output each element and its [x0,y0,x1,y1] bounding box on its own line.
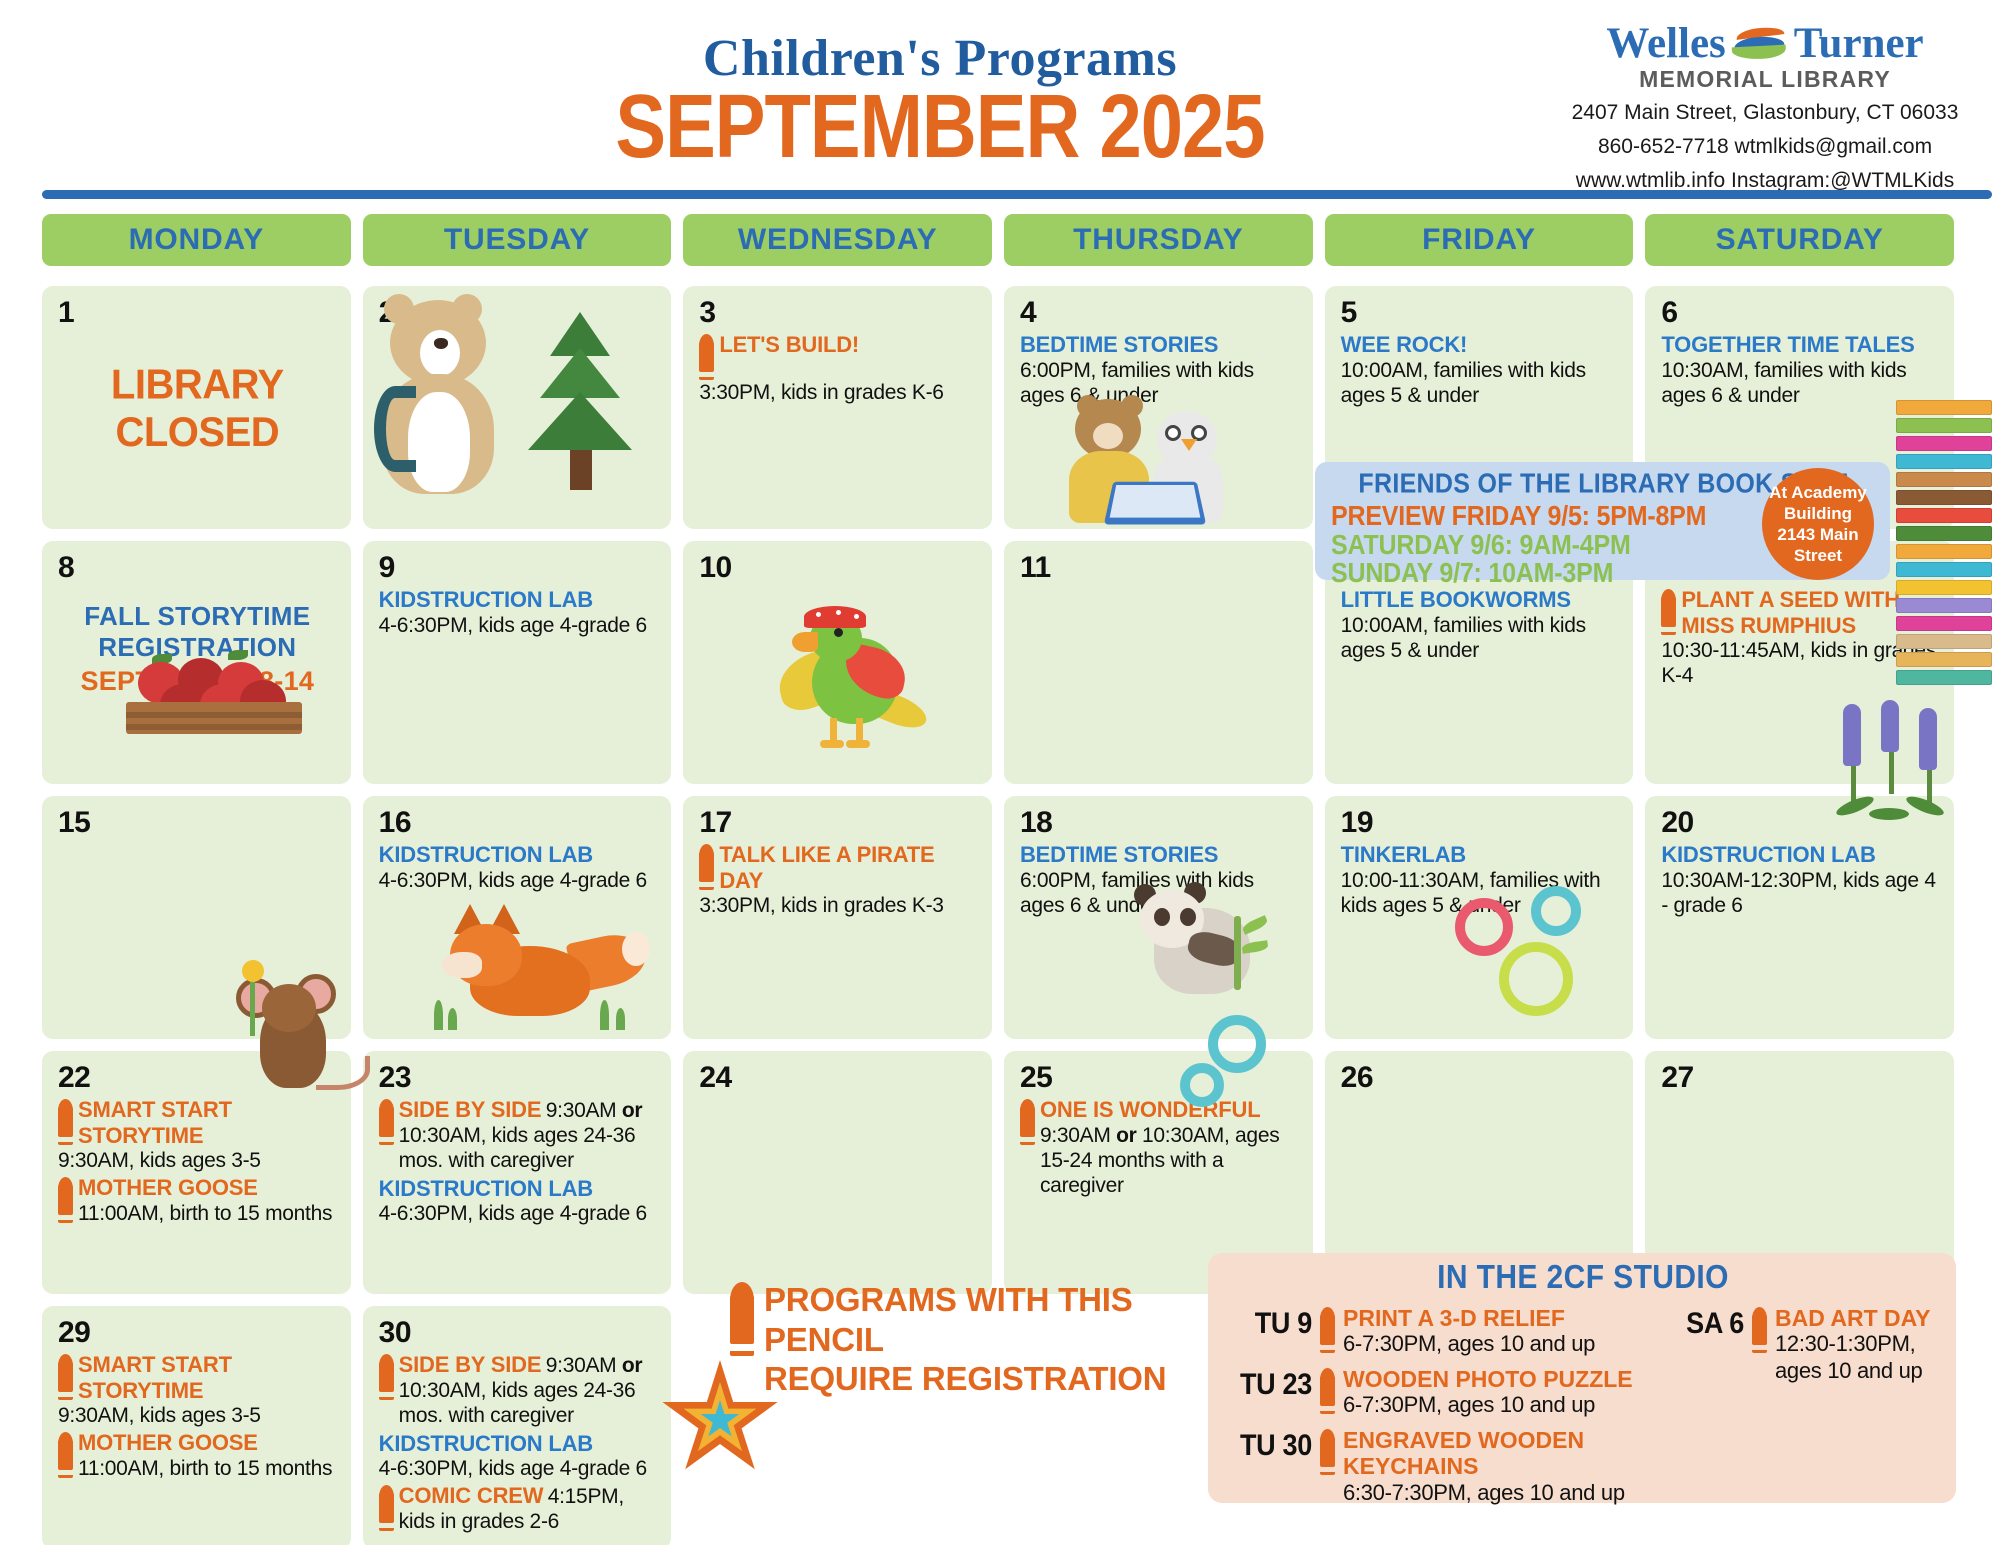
day-number: 30 [379,1318,658,1348]
calendar-cell-day-10[interactable]: 10 [683,541,992,784]
studio-program-item[interactable]: TU 30ENGRAVED WOODEN KEYCHAINS6:30-7:30P… [1226,1427,1656,1506]
calendar-page: Children's Programs SEPTEMBER 2025 Welle… [0,0,2000,1545]
calendar-cell-day-16[interactable]: 16KIDSTRUCTION LAB4-6:30PM, kids age 4-g… [363,796,672,1039]
event-detail: 10:00AM, families with kids ages 5 & und… [1341,359,1586,407]
fall-reg-line-1: FALL STORYTIME REGISTRATION [58,601,337,663]
day-number: 6 [1661,298,1940,328]
event-detail: 10:30-11:45AM, kids in grades K-4 [1661,639,1936,687]
event-title: BEDTIME STORIES [1020,332,1218,357]
dow-tuesday: TUESDAY [363,214,672,266]
day-number: 9 [379,553,658,583]
event-title: LITTLE BOOKWORMS [1341,587,1571,612]
studio-item-body: BAD ART DAY12:30-1:30PM, ages 10 and up [1775,1305,1940,1384]
day-number: 2 [379,298,658,328]
calendar-cell-day-1[interactable]: 1LIBRARY CLOSED [42,286,351,529]
legend-text: PROGRAMS WITH THIS PENCIL REQUIRE REGIST… [764,1280,1200,1399]
library-swoosh-icon [1732,27,1788,61]
day-number: 26 [1341,1063,1620,1093]
event-detail: 4-6:30PM, kids age 4-grade 6 [379,869,647,892]
calendar-cell-day-17[interactable]: 17TALK LIKE A PIRATE DAY3:30PM, kids in … [683,796,992,1039]
day-number: 15 [58,808,337,838]
pencil-icon [379,1485,394,1531]
day-number: 16 [379,808,658,838]
event-title: KIDSTRUCTION LAB [379,842,593,867]
calendar-event[interactable]: SMART START STORYTIME9:30AM, kids ages 3… [58,1352,337,1428]
pencil-icon [58,1099,73,1145]
event-title: KIDSTRUCTION LAB [1661,842,1875,867]
event-detail: 3:30PM, kids in grades K-6 [699,381,943,404]
calendar-event[interactable]: TOGETHER TIME TALES10:30AM, families wit… [1661,332,1940,408]
event-detail: 4-6:30PM, kids age 4-grade 6 [379,614,647,637]
calendar-event[interactable]: TALK LIKE A PIRATE DAY3:30PM, kids in gr… [699,842,978,918]
month-title: SEPTEMBER 2025 [480,85,1400,170]
calendar-event[interactable]: COMIC CREW 4:15PM, kids in grades 2-6 [379,1483,658,1534]
2cf-studio-panel[interactable]: IN THE 2CF STUDIO TU 9PRINT A 3-D RELIEF… [1208,1253,1956,1503]
event-list: SIDE BY SIDE 9:30AM or 10:30AM, kids age… [379,1097,658,1226]
studio-item-day: TU 23 [1226,1364,1312,1401]
day-number: 29 [58,1318,337,1348]
calendar-cell-day-2[interactable]: 2 [363,286,672,529]
studio-item-detail: 6-7:30PM, ages 10 and up [1343,1331,1595,1356]
calendar-event[interactable]: ONE IS WONDERFUL 9:30AM or 10:30AM, ages… [1020,1097,1299,1198]
pencil-icon [58,1177,73,1223]
studio-title: IN THE 2CF STUDIO [1226,1259,1940,1296]
studio-item-name: PRINT A 3-D RELIEF [1343,1305,1565,1331]
event-list: LITTLE BOOKWORMS10:00AM, families with k… [1341,587,1620,663]
pencil-icon [730,1282,754,1356]
calendar-cell-day-24[interactable]: 24 [683,1051,992,1294]
logo-subtitle: MEMORIAL LIBRARY [1550,66,1980,93]
event-title: MOTHER GOOSE [78,1430,258,1455]
event-list: TALK LIKE A PIRATE DAY3:30PM, kids in gr… [699,842,978,918]
dow-saturday: SATURDAY [1645,214,1954,266]
event-list: KIDSTRUCTION LAB4-6:30PM, kids age 4-gra… [379,842,658,893]
day-number: 4 [1020,298,1299,328]
event-title: KIDSTRUCTION LAB [379,587,593,612]
calendar-cell-day-22[interactable]: 22SMART START STORYTIME9:30AM, kids ages… [42,1051,351,1294]
pencil-icon [1320,1368,1335,1414]
event-detail: 6:00PM, families with kids ages 6 & unde… [1020,359,1254,407]
day-number: 25 [1020,1063,1299,1093]
calendar-cell-day-23[interactable]: 23SIDE BY SIDE 9:30AM or 10:30AM, kids a… [363,1051,672,1294]
event-detail: 10:30AM-12:30PM, kids age 4 - grade 6 [1661,869,1935,917]
legend-line-1: PROGRAMS WITH THIS PENCIL [764,1281,1133,1358]
event-detail: 3:30PM, kids in grades K-3 [699,894,943,917]
library-logo-block: Welles Turner MEMORIAL LIBRARY 2407 Main… [1550,22,1980,195]
event-list: ONE IS WONDERFUL 9:30AM or 10:30AM, ages… [1020,1097,1299,1198]
event-title: SIDE BY SIDE [399,1352,542,1377]
pencil-icon [1020,1099,1035,1145]
pencil-icon [1661,589,1676,635]
calendar-event[interactable]: TINKERLAB10:00-11:30AM, families with ki… [1341,842,1620,918]
dow-friday: FRIDAY [1325,214,1634,266]
calendar-event[interactable]: LITTLE BOOKWORMS10:00AM, families with k… [1341,587,1620,663]
logo-phone-email: 860-652-7718 wtmlkids@gmail.com [1550,134,1980,161]
calendar-cell-day-9[interactable]: 9KIDSTRUCTION LAB4-6:30PM, kids age 4-gr… [363,541,672,784]
event-detail: 9:30AM, kids ages 3-5 [58,1149,261,1172]
calendar-event[interactable]: KIDSTRUCTION LAB4-6:30PM, kids age 4-gra… [379,1431,658,1482]
event-title: TOGETHER TIME TALES [1661,332,1914,357]
event-list: TINKERLAB10:00-11:30AM, families with ki… [1341,842,1620,918]
calendar-event[interactable]: BEDTIME STORIES6:00PM, families with kid… [1020,332,1299,408]
day-number: 11 [1020,553,1299,583]
calendar-event[interactable]: MOTHER GOOSE 11:00AM, birth to 15 months [58,1175,337,1226]
book-sale-banner[interactable]: FRIENDS OF THE LIBRARY BOOK SALE PREVIEW… [1315,462,1890,580]
day-number: 3 [699,298,978,328]
calendar-event[interactable]: SIDE BY SIDE 9:30AM or 10:30AM, kids age… [379,1352,658,1429]
legend-line-2: REQUIRE REGISTRATION [764,1360,1166,1397]
pencil-icon [58,1432,73,1478]
studio-program-item[interactable]: TU 23WOODEN PHOTO PUZZLE6-7:30PM, ages 1… [1226,1366,1656,1419]
calendar-cell-day-20[interactable]: 20KIDSTRUCTION LAB10:30AM-12:30PM, kids … [1645,796,1954,1039]
fall-reg-line-2: SEPTEMBER 8-14 [58,665,337,697]
event-list: KIDSTRUCTION LAB4-6:30PM, kids age 4-gra… [379,587,658,638]
event-list: TOGETHER TIME TALES10:30AM, families wit… [1661,332,1940,408]
event-list: BEDTIME STORIES6:00PM, families with kid… [1020,332,1299,408]
studio-item-name: WOODEN PHOTO PUZZLE [1343,1366,1633,1392]
day-number: 17 [699,808,978,838]
event-title: BEDTIME STORIES [1020,842,1218,867]
day-number: 1 [58,298,337,328]
calendar-event[interactable]: MOTHER GOOSE 11:00AM, birth to 15 months [58,1430,337,1481]
day-of-week-row: MONDAY TUESDAY WEDNESDAY THURSDAY FRIDAY… [42,214,1954,266]
event-detail: 4-6:30PM, kids age 4-grade 6 [379,1457,647,1480]
event-list: SMART START STORYTIME9:30AM, kids ages 3… [58,1097,337,1226]
fall-storytime-registration-notice: FALL STORYTIME REGISTRATIONSEPTEMBER 8-1… [58,601,337,698]
studio-item-detail: 12:30-1:30PM, ages 10 and up [1775,1331,1923,1382]
event-detail: 10:00AM, families with kids ages 5 & und… [1341,614,1586,662]
studio-item-day: TU 30 [1226,1425,1312,1462]
calendar-event[interactable]: KIDSTRUCTION LAB4-6:30PM, kids age 4-gra… [379,587,658,638]
calendar-cell-day-8[interactable]: 8FALL STORYTIME REGISTRATIONSEPTEMBER 8-… [42,541,351,784]
day-number: 10 [699,553,978,583]
calendar-event[interactable]: SMART START STORYTIME9:30AM, kids ages 3… [58,1097,337,1173]
event-detail: 11:00AM, birth to 15 months [78,1202,332,1225]
calendar-cell-day-4[interactable]: 4BEDTIME STORIES6:00PM, families with ki… [1004,286,1313,529]
event-title: SMART START STORYTIME [78,1097,232,1148]
day-number: 8 [58,553,337,583]
event-title: COMIC CREW [399,1483,544,1508]
day-number: 19 [1341,808,1620,838]
pencil-icon [699,844,714,890]
studio-left-column: TU 9PRINT A 3-D RELIEF6-7:30PM, ages 10 … [1226,1305,1656,1514]
calendar-event[interactable]: KIDSTRUCTION LAB4-6:30PM, kids age 4-gra… [379,1176,658,1227]
logo-word-welles: Welles [1606,22,1725,65]
studio-right-column: SA 6BAD ART DAY12:30-1:30PM, ages 10 and… [1670,1305,1940,1514]
event-title: MOTHER GOOSE [78,1175,258,1200]
day-number: 5 [1341,298,1620,328]
dow-thursday: THURSDAY [1004,214,1313,266]
day-number: 24 [699,1063,978,1093]
calendar-cell-day-30[interactable]: 30SIDE BY SIDE 9:30AM or 10:30AM, kids a… [363,1306,672,1545]
event-list: SIDE BY SIDE 9:30AM or 10:30AM, kids age… [379,1352,658,1535]
studio-item-name: BAD ART DAY [1775,1305,1930,1331]
studio-program-item[interactable]: TU 9PRINT A 3-D RELIEF6-7:30PM, ages 10 … [1226,1305,1656,1358]
header-divider [42,190,1992,199]
book-stack-illustration [1896,400,1992,688]
studio-item-day: TU 9 [1226,1304,1312,1341]
event-title: LET'S BUILD! [719,332,859,357]
dow-monday: MONDAY [42,214,351,266]
pencil-icon [1320,1429,1335,1475]
studio-item-detail: 6:30-7:30PM, ages 10 and up [1343,1480,1625,1505]
studio-item-name: ENGRAVED WOODEN KEYCHAINS [1343,1427,1584,1479]
page-header: Children's Programs SEPTEMBER 2025 Welle… [0,0,2000,205]
pencil-icon [1752,1307,1767,1353]
event-detail: 10:30AM, families with kids ages 6 & und… [1661,359,1906,407]
event-list: LET'S BUILD!3:30PM, kids in grades K-6 [699,332,978,405]
event-title: TINKERLAB [1341,842,1466,867]
calendar-event[interactable]: SIDE BY SIDE 9:30AM or 10:30AM, kids age… [379,1097,658,1174]
calendar-event[interactable]: KIDSTRUCTION LAB4-6:30PM, kids age 4-gra… [379,842,658,893]
event-title: KIDSTRUCTION LAB [379,1431,593,1456]
pencil-icon [699,334,714,380]
day-number: 18 [1020,808,1299,838]
day-number: 27 [1661,1063,1940,1093]
calendar-event[interactable]: LET'S BUILD!3:30PM, kids in grades K-6 [699,332,978,405]
event-title: ONE IS WONDERFUL [1040,1097,1260,1122]
event-title: SIDE BY SIDE [399,1097,542,1122]
studio-item-body: WOODEN PHOTO PUZZLE6-7:30PM, ages 10 and… [1343,1366,1633,1419]
event-detail: 10:00-11:30AM, families with kids ages 5… [1341,869,1601,917]
event-title: SMART START STORYTIME [78,1352,232,1403]
calendar-cell-day-29[interactable]: 29SMART START STORYTIME9:30AM, kids ages… [42,1306,351,1545]
title-block: Children's Programs SEPTEMBER 2025 [480,32,1400,157]
calendar-cell-day-19[interactable]: 19TINKERLAB10:00-11:30AM, families with … [1325,796,1634,1039]
pencil-icon [379,1354,394,1400]
pencil-icon [58,1354,73,1400]
event-list: BEDTIME STORIES6:00PM, families with kid… [1020,842,1299,918]
calendar-cell-day-3[interactable]: 3LET'S BUILD!3:30PM, kids in grades K-6 [683,286,992,529]
event-detail: 9:30AM, kids ages 3-5 [58,1404,261,1427]
event-detail: 6:00PM, families with kids ages 6 & unde… [1020,869,1254,917]
logo-wordmark: Welles Turner [1550,22,1980,65]
studio-item-day: SA 6 [1670,1304,1744,1341]
event-title: WEE ROCK! [1341,332,1468,357]
event-list: SMART START STORYTIME9:30AM, kids ages 3… [58,1352,337,1481]
studio-item-body: PRINT A 3-D RELIEF6-7:30PM, ages 10 and … [1343,1305,1595,1358]
event-detail: 4-6:30PM, kids age 4-grade 6 [379,1202,647,1225]
event-list: KIDSTRUCTION LAB10:30AM-12:30PM, kids ag… [1661,842,1940,918]
logo-word-turner: Turner [1794,22,1924,65]
studio-program-item[interactable]: SA 6BAD ART DAY12:30-1:30PM, ages 10 and… [1670,1305,1940,1384]
calendar-cell-day-18[interactable]: 18BEDTIME STORIES6:00PM, families with k… [1004,796,1313,1039]
day-number: 23 [379,1063,658,1093]
calendar-cell-day-15[interactable]: 15 [42,796,351,1039]
calendar-event[interactable]: KIDSTRUCTION LAB10:30AM-12:30PM, kids ag… [1661,842,1940,918]
pencil-icon [379,1099,394,1145]
event-title: TALK LIKE A PIRATE DAY [719,842,934,893]
event-detail: 11:00AM, birth to 15 months [78,1457,332,1480]
event-detail: 9:30AM or 10:30AM, ages 15-24 months wit… [1040,1124,1279,1197]
logo-address: 2407 Main Street, Glastonbury, CT 06033 [1550,100,1980,127]
book-sale-location-badge: At Academy Building 2143 Main Street [1762,468,1874,580]
registration-legend: PROGRAMS WITH THIS PENCIL REQUIRE REGIST… [730,1280,1200,1399]
event-list: WEE ROCK!10:00AM, families with kids age… [1341,332,1620,408]
day-number: 22 [58,1063,337,1093]
library-closed-notice: LIBRARY CLOSED [58,362,337,456]
calendar-event[interactable]: BEDTIME STORIES6:00PM, families with kid… [1020,842,1299,918]
day-number: 20 [1661,808,1940,838]
pencil-icon [1320,1307,1335,1353]
event-title: PLANT A SEED WITH MISS RUMPHIUS [1681,587,1900,638]
studio-item-detail: 6-7:30PM, ages 10 and up [1343,1392,1595,1417]
studio-item-body: ENGRAVED WOODEN KEYCHAINS6:30-7:30PM, ag… [1343,1427,1656,1506]
event-title: KIDSTRUCTION LAB [379,1176,593,1201]
dow-wednesday: WEDNESDAY [683,214,992,266]
calendar-cell-day-11[interactable]: 11 [1004,541,1313,784]
calendar-event[interactable]: WEE ROCK!10:00AM, families with kids age… [1341,332,1620,408]
